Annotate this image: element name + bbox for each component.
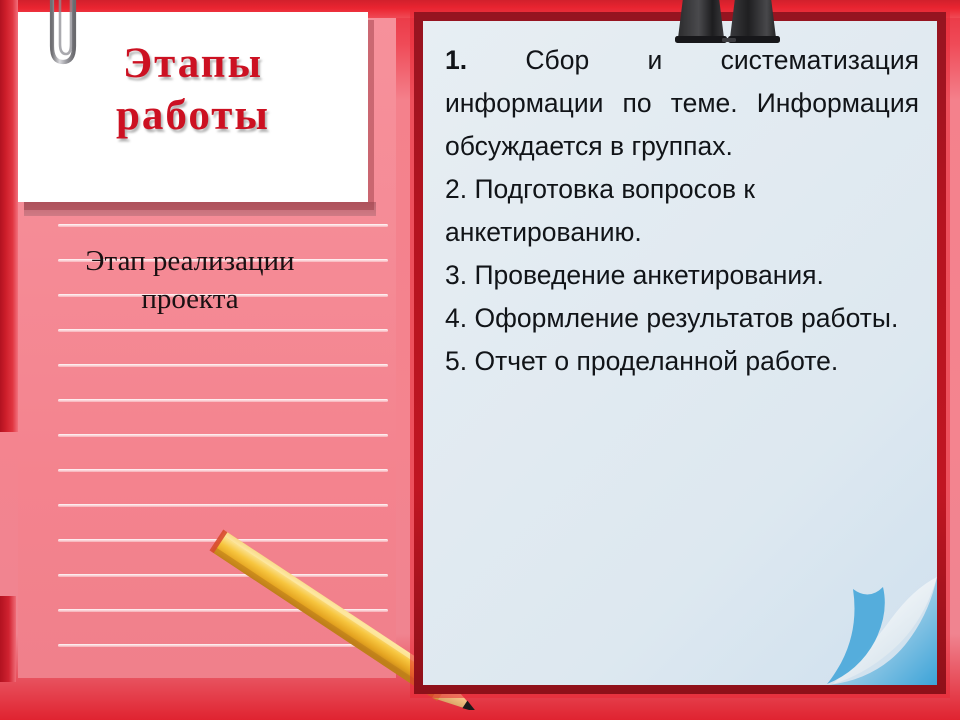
list-item-number: 5. bbox=[445, 346, 467, 376]
list-item: 3. Проведение анкетирования. bbox=[445, 254, 919, 297]
binder-clip-icon bbox=[672, 0, 788, 48]
list-item-number: 4. bbox=[445, 303, 467, 333]
list-item: 5. Отчет о проделанной работе. bbox=[445, 340, 919, 383]
list-item: 4. Оформление результатов работы. bbox=[445, 297, 919, 340]
list-item-number: 3. bbox=[445, 260, 467, 290]
notepad-rule bbox=[58, 364, 388, 367]
subtitle-text: Этап реализации проекта bbox=[14, 242, 366, 319]
notepad-rule bbox=[58, 469, 388, 472]
list-item: 2. Подготовка вопросов к анкетированию. bbox=[445, 168, 919, 254]
steps-list: 1. Сбор и систематизация информации по т… bbox=[445, 39, 919, 383]
list-item-text: Проведение анкетирования. bbox=[474, 260, 823, 290]
list-item-text: Оформление результатов работы. bbox=[474, 303, 898, 333]
left-accent-strip bbox=[0, 0, 18, 432]
paperclip-icon bbox=[40, 0, 86, 72]
left-accent-strip-lower bbox=[0, 596, 16, 682]
notepad-rule bbox=[58, 224, 388, 227]
list-item-text: Подготовка вопросов к анкетированию. bbox=[445, 174, 755, 247]
list-item-number: 2. bbox=[445, 174, 467, 204]
notepad-rule bbox=[58, 434, 388, 437]
title-card-shadow bbox=[24, 202, 376, 216]
notepad-rule bbox=[58, 504, 388, 507]
list-item: 1. Сбор и систематизация информации по т… bbox=[445, 39, 919, 168]
content-panel: 1. Сбор и систематизация информации по т… bbox=[423, 21, 937, 685]
notepad-rule bbox=[58, 329, 388, 332]
page-curl-icon bbox=[819, 567, 937, 685]
notepad-rule bbox=[58, 399, 388, 402]
list-item-number: 1. bbox=[445, 45, 467, 75]
list-item-text: Сбор и систематизация информации по теме… bbox=[445, 45, 919, 161]
list-item-text: Отчет о проделанной работе. bbox=[474, 346, 838, 376]
slide: Этапы работы Этап реализации проекта bbox=[0, 0, 960, 720]
content-panel-frame: 1. Сбор и систематизация информации по т… bbox=[414, 12, 946, 694]
